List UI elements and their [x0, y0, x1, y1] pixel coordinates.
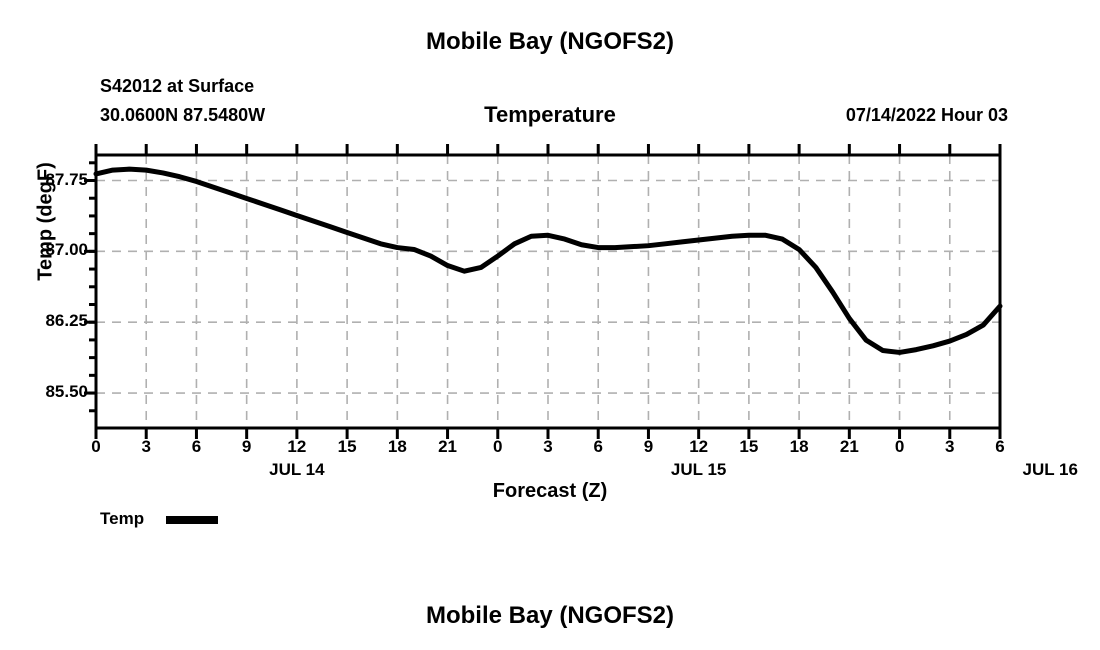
chart-page: Mobile Bay (NGOFS2) S42012 at Surface 30…: [0, 0, 1100, 650]
series-line-temp: [96, 169, 1000, 352]
legend-label-temp: Temp: [100, 509, 144, 529]
temperature-plot: [0, 0, 1100, 650]
footer-title: Mobile Bay (NGOFS2): [0, 602, 1100, 630]
legend-swatch-temp: [166, 516, 218, 524]
